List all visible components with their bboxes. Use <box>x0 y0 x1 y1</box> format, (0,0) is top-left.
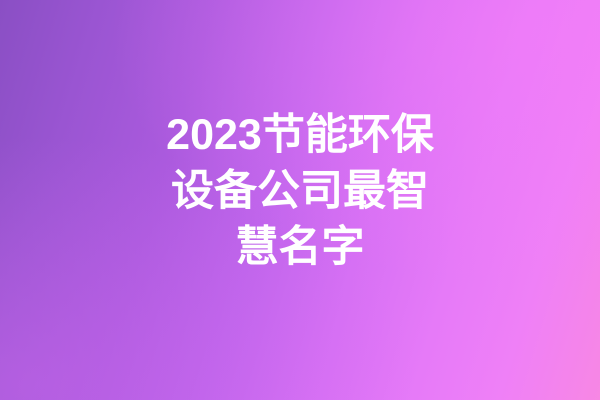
title-block: 2023节能环保设备公司最智慧名字 <box>150 107 450 275</box>
title-banner: 2023节能环保设备公司最智慧名字 <box>0 0 600 400</box>
banner-title: 2023节能环保设备公司最智慧名字 <box>150 107 450 275</box>
